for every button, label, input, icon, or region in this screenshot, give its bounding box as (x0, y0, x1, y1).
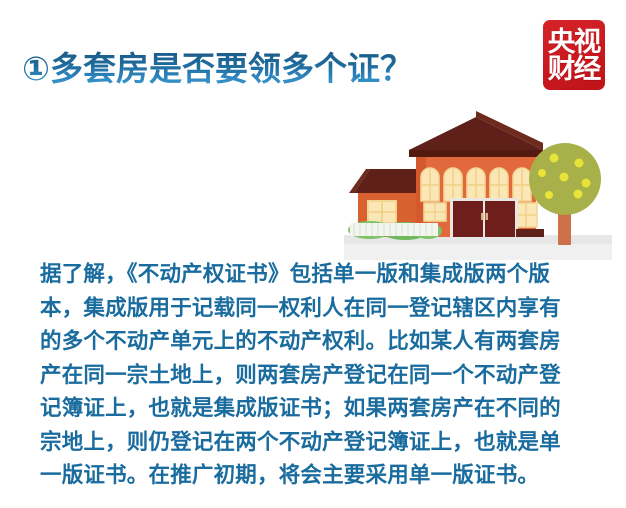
arched-window (467, 168, 485, 201)
tree-fruit (545, 191, 553, 199)
logo-char-yang: 央 (548, 29, 575, 56)
cctv-finance-logo: 央 视 财 经 (543, 20, 605, 90)
arched-window (444, 168, 462, 201)
garage-handle (481, 213, 484, 220)
tree-fruit (538, 169, 546, 177)
garage (450, 198, 518, 237)
body-paragraph: 据了解，《不动产权证书》包括单一版和集成版两个版 本，集成版用于记载同一权利人在… (40, 258, 592, 493)
tree-fruit (574, 190, 583, 199)
paragraph-line: 的多个不动产单元上的不动产权利。比如某人有两套房 (40, 325, 592, 359)
arched-window (490, 168, 508, 201)
ground-shadow (344, 235, 612, 260)
arched-window (513, 168, 531, 201)
upper-arched-windows (421, 168, 531, 201)
paragraph-line: 产在同一宗土地上，则两套房产登记在同一个不动产登 (40, 359, 592, 393)
page-title: ①多套房是否要领多个证？ (22, 50, 413, 88)
tree-fruit (550, 154, 559, 163)
paragraph-line: 据了解，《不动产权证书》包括单一版和集成版两个版 (40, 258, 592, 292)
fence-and-bushes (348, 221, 442, 240)
paragraph-line: 记簿证上，也就是集成版证书；如果两套房产在不同的 (40, 392, 592, 426)
logo-char-jing: 经 (574, 56, 601, 83)
paragraph-line: 一版证书。在推广初期，将会主要采用单一版证书。 (40, 459, 592, 493)
garage-handle (486, 213, 489, 220)
logo-row-top: 央 视 (548, 29, 600, 56)
lower-window (424, 203, 446, 221)
house-stoop (516, 229, 544, 237)
paragraph-line: 宗地上，则仍登记在两个不动产登记簿证上，也就是单 (40, 426, 592, 460)
logo-char-shi: 视 (574, 29, 601, 56)
tree-fruit (560, 173, 569, 182)
paragraph-line: 本，集成版用于记载同一权利人在同一登记辖区内享有 (40, 292, 592, 326)
tree-fruit (582, 179, 591, 188)
lower-window (515, 203, 537, 227)
logo-char-cai: 财 (548, 56, 575, 83)
tree-fruit (575, 159, 584, 168)
logo-row-bottom: 财 经 (548, 56, 600, 83)
house-illustration (330, 95, 626, 260)
arched-window (421, 168, 439, 201)
